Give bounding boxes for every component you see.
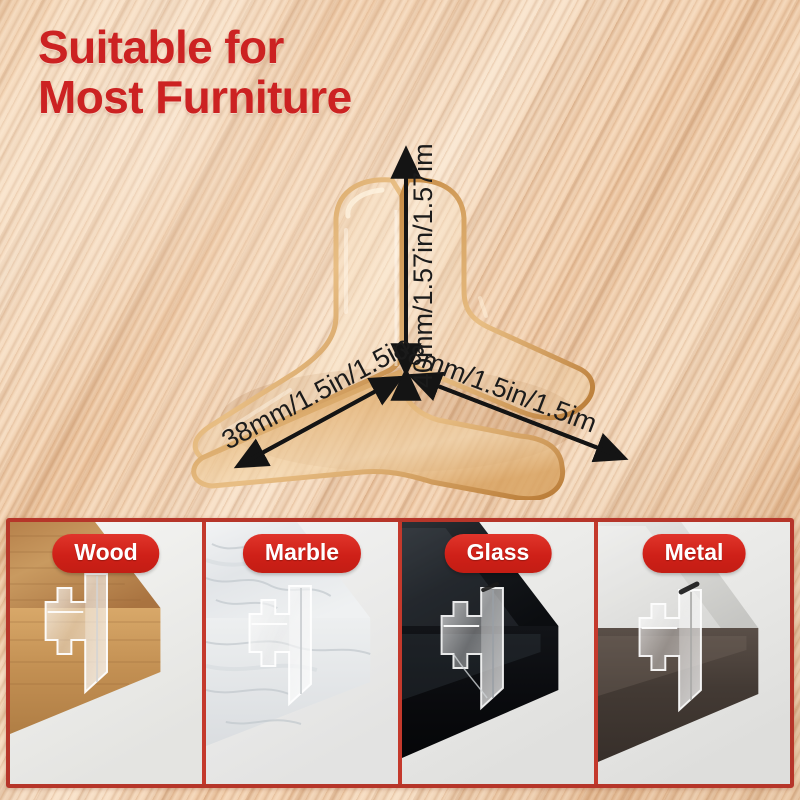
product-illustration: 40mm/1.57in/1.57im 38mm/1.5in/1.5im 38mm… <box>150 120 670 500</box>
material-badge-metal: Metal <box>643 534 746 573</box>
material-panel-wood: Wood <box>10 522 202 784</box>
material-badge-wood: Wood <box>52 534 159 573</box>
material-badge-marble: Marble <box>243 534 361 573</box>
headline-line-1: Suitable for <box>38 21 284 73</box>
material-compatibility-strip: Wood <box>6 518 794 788</box>
material-panel-marble: Marble <box>206 522 398 784</box>
headline-line-2: Most Furniture <box>38 72 458 122</box>
headline: Suitable for Most Furniture <box>38 22 458 122</box>
product-marketing-image: Suitable for Most Furniture <box>0 0 800 800</box>
material-badge-glass: Glass <box>445 534 552 573</box>
material-panel-metal: Metal <box>598 522 790 784</box>
material-panel-glass: Glass <box>402 522 594 784</box>
